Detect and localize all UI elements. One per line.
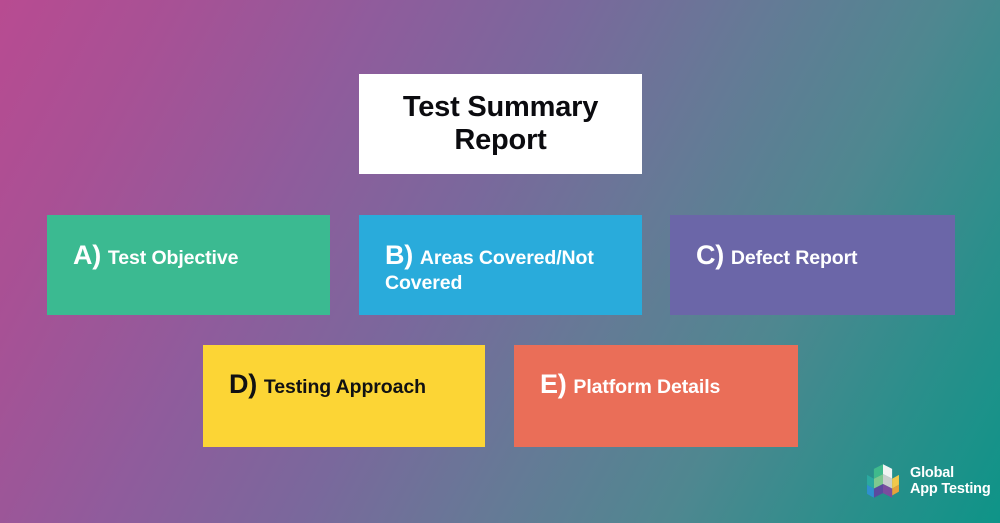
title-card: Test Summary Report [359,74,642,174]
item-card-e-letter: E) [540,369,566,399]
item-card-b-content: B)Areas Covered/Not Covered [385,240,616,295]
brand-logo-line-1: Global [910,465,991,481]
item-card-e-label: Platform Details [573,376,720,398]
brand-logo-text: Global App Testing [910,465,991,498]
item-card-a-label: Test Objective [108,247,238,269]
item-card-a[interactable]: A)Test Objective [47,215,330,315]
brand-logo-line-2: App Testing [910,481,991,497]
item-card-e-content: E)Platform Details [540,369,772,401]
item-card-b[interactable]: B)Areas Covered/Not Covered [359,215,642,315]
item-card-e[interactable]: E)Platform Details [514,345,798,447]
item-card-c-label: Defect Report [731,247,858,269]
global-app-testing-hex-icon [864,462,902,500]
page-title-line-1: Test Summary [403,91,598,123]
item-card-a-letter: A) [73,240,101,270]
item-card-d-letter: D) [229,369,257,399]
page-title: Test Summary Report [403,91,598,157]
page-title-line-2: Report [454,124,546,156]
item-card-b-label: Areas Covered/Not Covered [385,247,594,294]
item-card-d-label: Testing Approach [264,376,426,398]
item-card-a-content: A)Test Objective [73,240,304,272]
item-card-b-letter: B) [385,240,413,270]
item-card-c-content: C)Defect Report [696,240,929,272]
slide-canvas: Test Summary Report A)Test Objective B)A… [0,0,1000,523]
item-card-c-letter: C) [696,240,724,270]
item-card-d-content: D)Testing Approach [229,369,459,401]
brand-logo: Global App Testing [864,462,991,500]
item-card-d[interactable]: D)Testing Approach [203,345,485,447]
item-card-c[interactable]: C)Defect Report [670,215,955,315]
